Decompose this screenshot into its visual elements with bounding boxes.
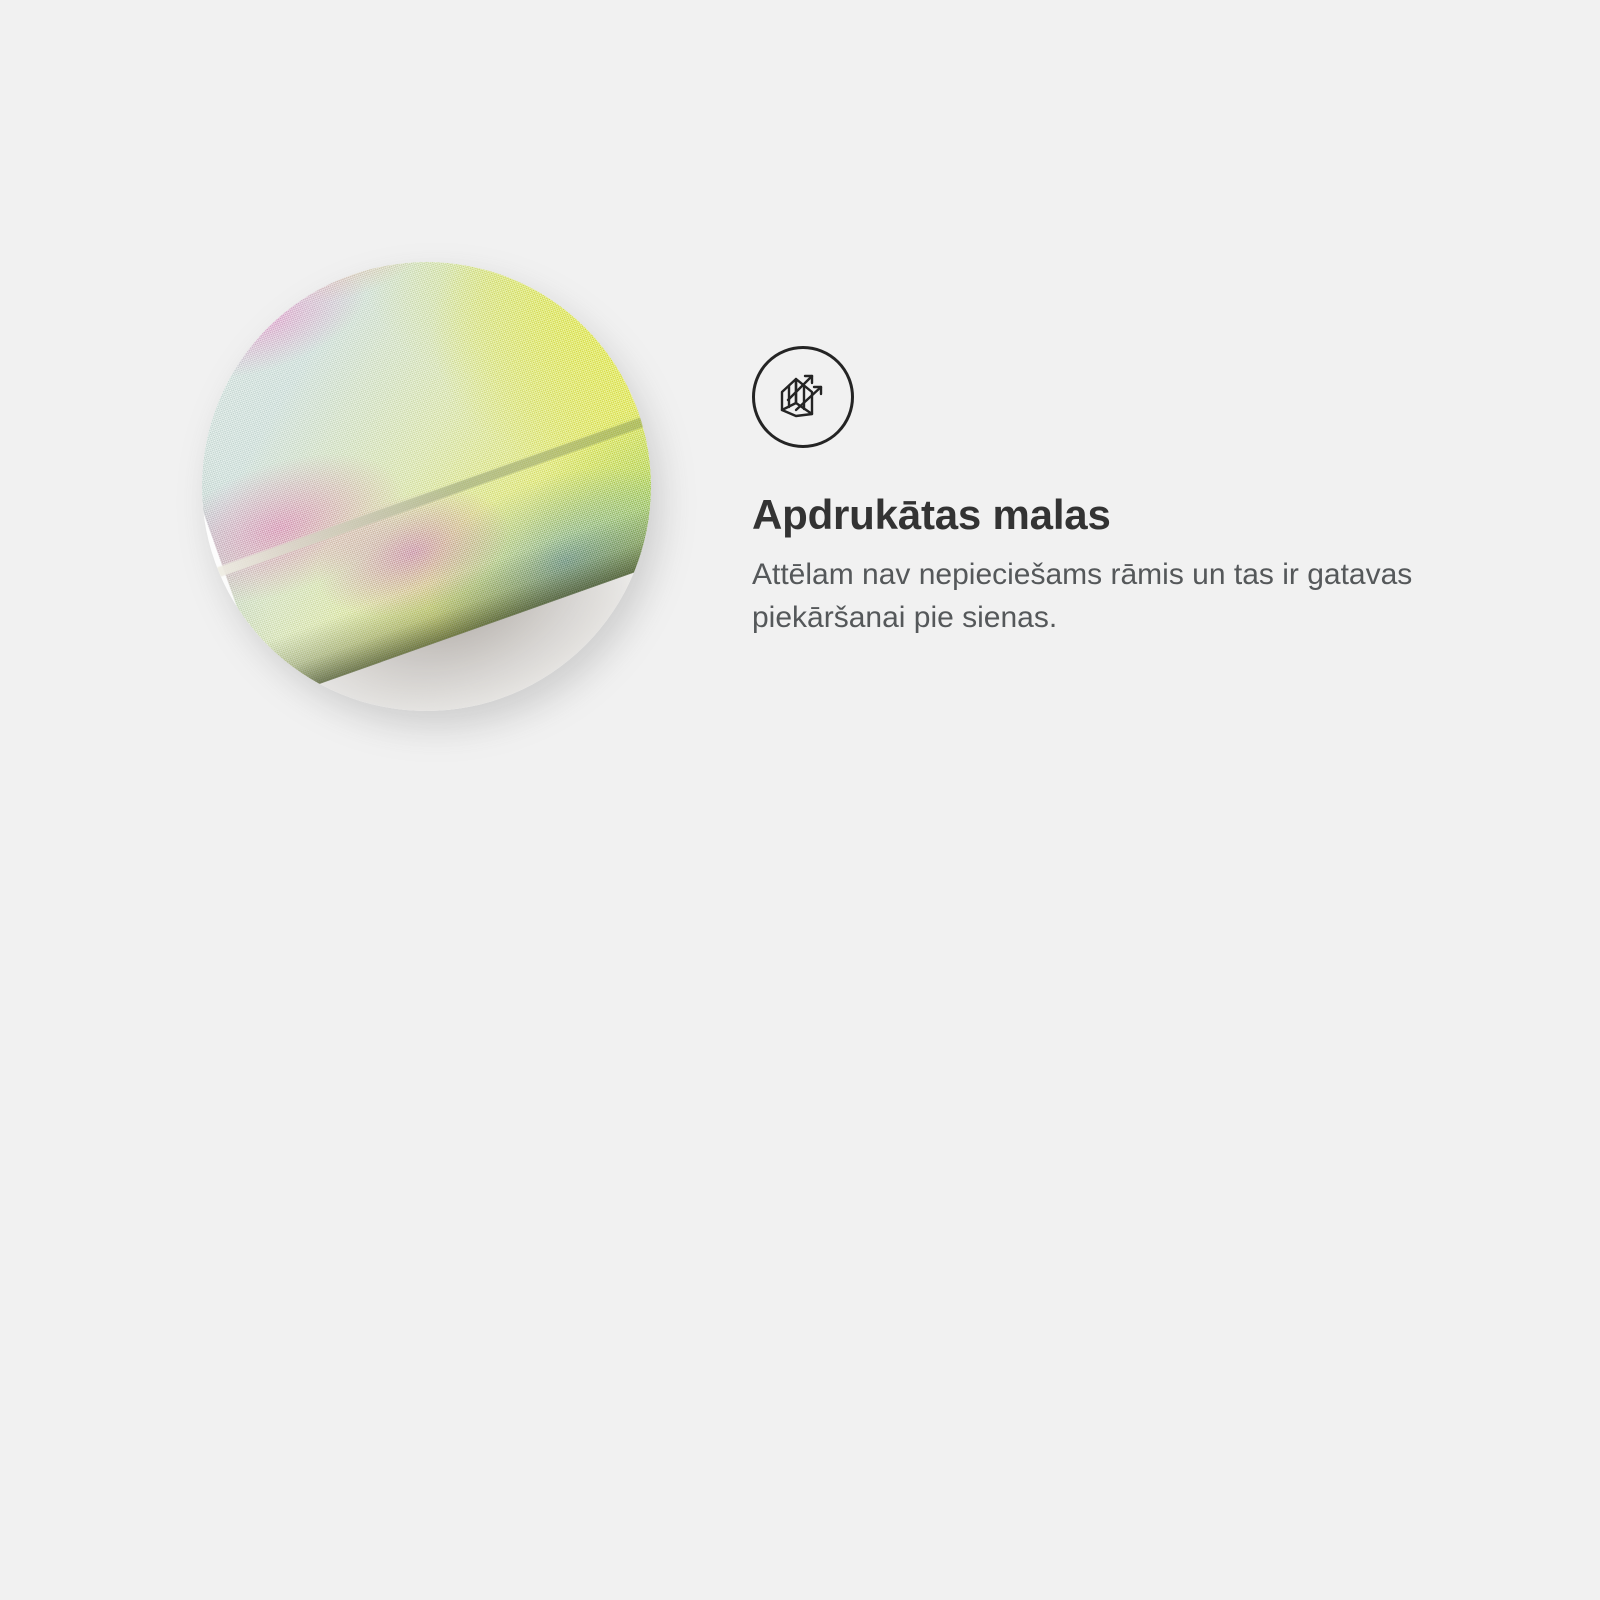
feature-block-printed-edges: Apdrukātas malas Attēlam nav nepieciešam… [0,0,1600,800]
feature-highlights-page: Apdrukātas malas Attēlam nav nepieciešam… [0,0,1600,1600]
feature-block-eco-product: EKO produkts Mūsu ražošanas procesā tiek… [0,800,1600,1600]
printed-edges-icon [752,346,854,448]
canvas-photo-backdrop [202,262,651,711]
feature-title: Apdrukātas malas [752,492,1492,538]
feature-text-printed-edges: Apdrukātas malas Attēlam nav nepieciešam… [752,346,1492,639]
canvas-corner-photo [202,262,651,711]
feature-description: Attēlam nav nepieciešams rāmis un tas ir… [752,554,1470,639]
printed-edges-glyph [772,366,834,428]
